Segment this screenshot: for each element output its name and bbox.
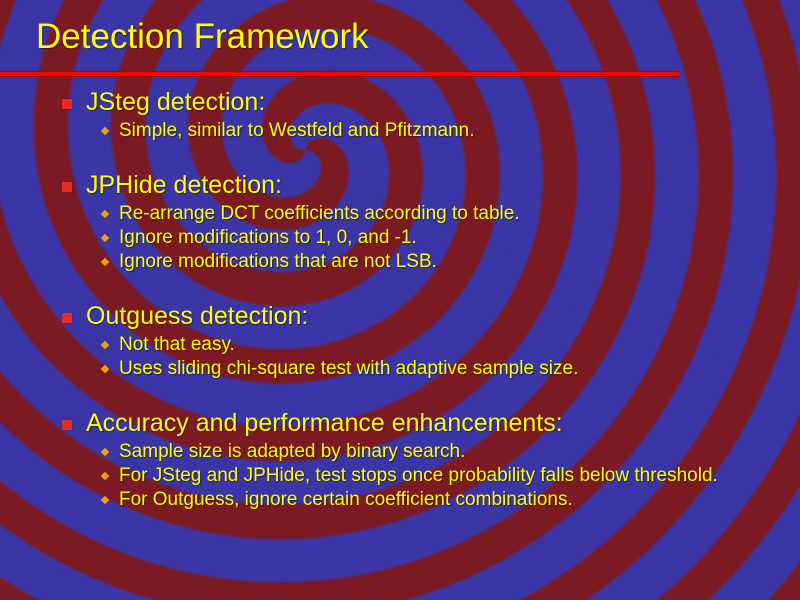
level2-bullet-item: Not that easy. [0, 333, 800, 357]
level2-bullet-item: Simple, similar to Westfeld and Pfitzman… [0, 119, 800, 143]
title-divider [0, 71, 679, 77]
square-bullet-icon [62, 420, 72, 430]
level2-bullet-item: For Outguess, ignore certain coefficient… [0, 488, 800, 512]
slide-content: Detection Framework JSteg detection: Sim… [0, 0, 800, 600]
level1-bullet-item: Outguess detection: [0, 300, 800, 333]
diamond-bullet-icon [101, 258, 109, 266]
diamond-bullet-icon [101, 341, 109, 349]
page-title: Detection Framework [36, 16, 369, 58]
level2-bullet-item: Ignore modifications to 1, 0, and -1. [0, 226, 800, 250]
diamond-bullet-icon [101, 234, 109, 242]
level2-bullet-label: Sample size is adapted by binary search. [119, 441, 465, 462]
level2-bullet-label: Simple, similar to Westfeld and Pfitzman… [119, 120, 475, 141]
bullet-group: Accuracy and performance enhancements: S… [0, 407, 800, 512]
level1-bullet-label: Accuracy and performance enhancements: [86, 409, 563, 437]
level1-bullet-item: JPHide detection: [0, 169, 800, 202]
level2-bullet-item: Sample size is adapted by binary search. [0, 440, 800, 464]
level2-bullet-item: Re-arrange DCT coefficients according to… [0, 202, 800, 226]
slide-body: JSteg detection: Simple, similar to West… [0, 86, 800, 520]
level1-bullet-item: JSteg detection: [0, 86, 800, 119]
diamond-bullet-icon [101, 448, 109, 456]
square-bullet-icon [62, 313, 72, 323]
group-spacer [0, 151, 800, 169]
diamond-bullet-icon [101, 472, 109, 480]
square-bullet-icon [62, 99, 72, 109]
level2-bullet-item: For JSteg and JPHide, test stops once pr… [0, 464, 800, 488]
level2-bullet-label: Uses sliding chi-square test with adapti… [119, 358, 578, 379]
group-spacer [0, 282, 800, 300]
level2-bullet-label: For JSteg and JPHide, test stops once pr… [119, 465, 718, 486]
square-bullet-icon [62, 182, 72, 192]
level2-bullet-label: Not that easy. [119, 334, 235, 355]
level2-bullet-label: Re-arrange DCT coefficients according to… [119, 203, 520, 224]
bullet-group: JPHide detection: Re-arrange DCT coeffic… [0, 169, 800, 274]
group-spacer [0, 389, 800, 407]
presentation-slide: Detection Framework JSteg detection: Sim… [0, 0, 800, 600]
diamond-bullet-icon [101, 210, 109, 218]
level2-bullet-label: Ignore modifications that are not LSB. [119, 251, 437, 272]
level1-bullet-label: JPHide detection: [86, 171, 282, 199]
level1-bullet-label: Outguess detection: [86, 302, 308, 330]
diamond-bullet-icon [101, 496, 109, 504]
level2-bullet-item: Uses sliding chi-square test with adapti… [0, 357, 800, 381]
diamond-bullet-icon [101, 127, 109, 135]
bullet-group: JSteg detection: Simple, similar to West… [0, 86, 800, 143]
level1-bullet-item: Accuracy and performance enhancements: [0, 407, 800, 440]
diamond-bullet-icon [101, 365, 109, 373]
level2-bullet-label: For Outguess, ignore certain coefficient… [119, 489, 573, 510]
bullet-group: Outguess detection: Not that easy. Uses … [0, 300, 800, 381]
level2-bullet-item: Ignore modifications that are not LSB. [0, 250, 800, 274]
level2-bullet-label: Ignore modifications to 1, 0, and -1. [119, 227, 417, 248]
level1-bullet-label: JSteg detection: [86, 88, 265, 116]
